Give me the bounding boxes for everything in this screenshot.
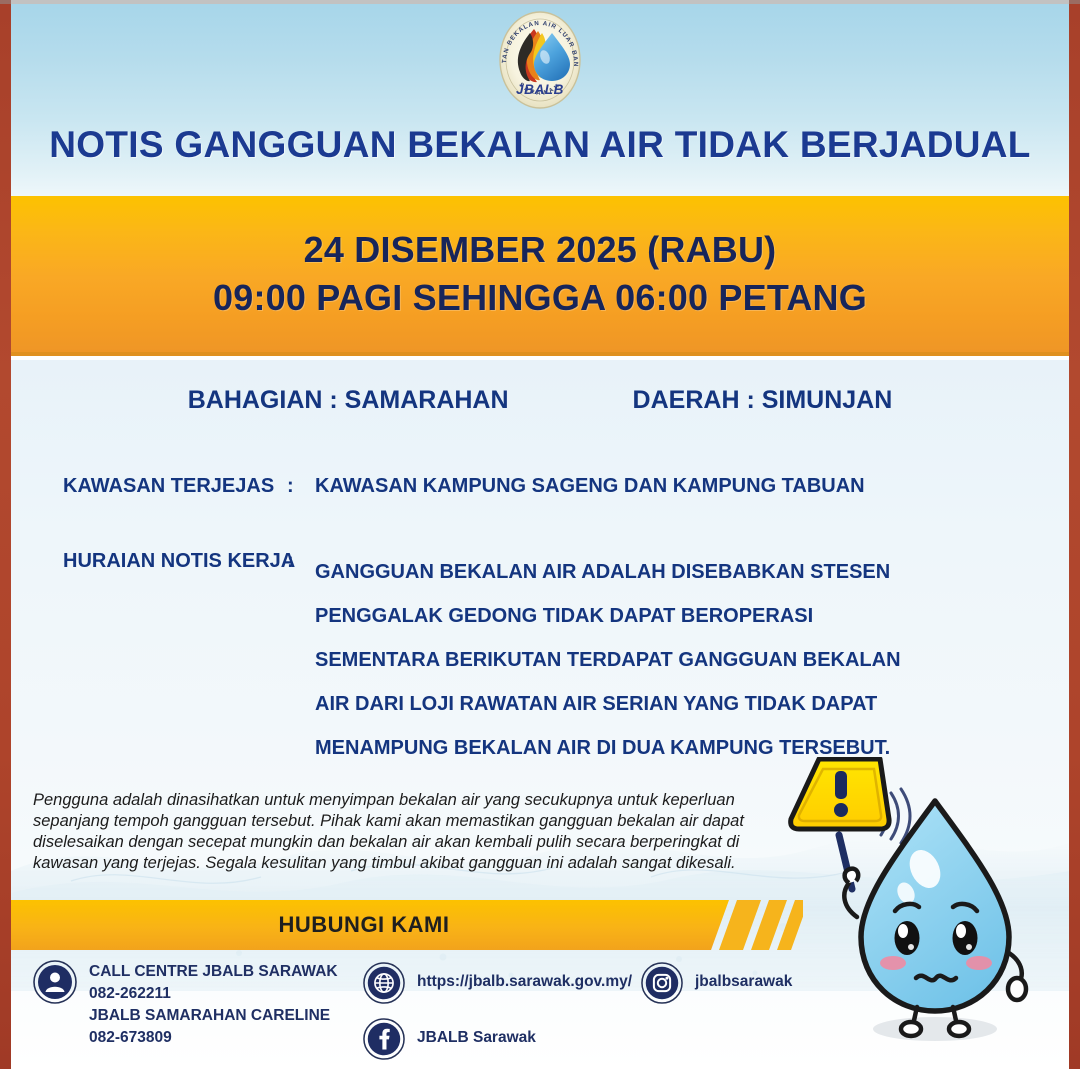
contact-instagram[interactable]: jbalbsarawak	[641, 962, 792, 1004]
right-edge-border	[1069, 0, 1080, 1069]
field-label: HURAIAN NOTIS KERJA	[11, 550, 287, 770]
field-value-line: SEMENTARA BERIKUTAN TERDAPAT GANGGUAN BE…	[315, 638, 901, 682]
date-time-band: 24 DISEMBER 2025 (RABU) 09:00 PAGI SEHIN…	[11, 196, 1069, 356]
careline-name: JBALB SAMARAHAN CARELINE	[89, 1005, 338, 1027]
water-disruption-notice-poster: JABATAN BEKALAN AIR LUAR BANDAR SARAWAK …	[0, 0, 1080, 1069]
svg-text:JBALB: JBALB	[516, 82, 564, 97]
notice-date: 24 DISEMBER 2025 (RABU)	[304, 229, 777, 271]
website-url[interactable]: https://jbalb.sarawak.gov.my/	[417, 962, 632, 993]
careline-phone: 082-673809	[89, 1027, 338, 1049]
region-row: BAHAGIAN : SAMARAHAN DAERAH : SIMUNJAN	[11, 386, 1069, 415]
body-section: BAHAGIAN : SAMARAHAN DAERAH : SIMUNJAN K…	[11, 360, 1069, 1069]
top-hairline	[0, 0, 1080, 4]
notice-time: 09:00 PAGI SEHINGGA 06:00 PETANG	[213, 277, 867, 319]
field-value-line: AIR DARI LOJI RAWATAN AIR SERIAN YANG TI…	[315, 682, 901, 726]
field-label: KAWASAN TERJEJAS	[11, 475, 287, 498]
field-colon: :	[287, 550, 315, 770]
advisory-paragraph: Pengguna adalah dinasihatkan untuk menyi…	[33, 790, 778, 874]
contact-banner: HUBUNGI KAMI	[11, 900, 803, 950]
field-value-line: PENGGALAK GEDONG TIDAK DAPAT BEROPERASI	[315, 594, 901, 638]
field-huraian-notis-kerja: HURAIAN NOTIS KERJA : GANGGUAN BEKALAN A…	[11, 550, 1069, 770]
field-colon: :	[287, 475, 315, 498]
facebook-handle[interactable]: JBALB Sarawak	[417, 1018, 536, 1049]
call-centre-phone: 082-262211	[89, 983, 338, 1005]
contact-facebook[interactable]: JBALB Sarawak	[363, 1018, 536, 1060]
field-value-line: MENAMPUNG BEKALAN AIR DI DUA KAMPUNG TER…	[315, 726, 901, 770]
contact-website[interactable]: https://jbalb.sarawak.gov.my/	[363, 962, 632, 1004]
instagram-handle[interactable]: jbalbsarawak	[695, 962, 792, 993]
district-label: DAERAH : SIMUNJAN	[633, 386, 893, 415]
call-centre-name: CALL CENTRE JBALB SARAWAK	[89, 961, 338, 983]
left-edge-border	[0, 0, 11, 1069]
facebook-icon	[363, 1018, 405, 1060]
field-kawasan-terjejas: KAWASAN TERJEJAS : KAWASAN KAMPUNG SAGEN…	[11, 475, 1069, 498]
contact-call-centre-text: CALL CENTRE JBALB SARAWAK 082-262211 JBA…	[89, 960, 338, 1049]
field-value-line: GANGGUAN BEKALAN AIR ADALAH DISEBABKAN S…	[315, 550, 901, 594]
globe-icon	[363, 962, 405, 1004]
header-section: JABATAN BEKALAN AIR LUAR BANDAR SARAWAK …	[11, 4, 1069, 196]
person-icon	[33, 960, 77, 1004]
division-label: BAHAGIAN : SAMARAHAN	[188, 386, 509, 415]
field-value-line: KAWASAN KAMPUNG SAGENG DAN KAMPUNG TABUA…	[315, 475, 865, 498]
instagram-icon	[641, 962, 683, 1004]
jbalb-seal-logo: JABATAN BEKALAN AIR LUAR BANDAR SARAWAK …	[490, 9, 590, 112]
page-title: NOTIS GANGGUAN BEKALAN AIR TIDAK BERJADU…	[11, 124, 1069, 166]
contact-banner-label: HUBUNGI KAMI	[11, 900, 717, 950]
contacts-section: CALL CENTRE JBALB SARAWAK 082-262211 JBA…	[11, 960, 1069, 1069]
contact-call-centre[interactable]: CALL CENTRE JBALB SARAWAK 082-262211 JBA…	[33, 960, 338, 1049]
